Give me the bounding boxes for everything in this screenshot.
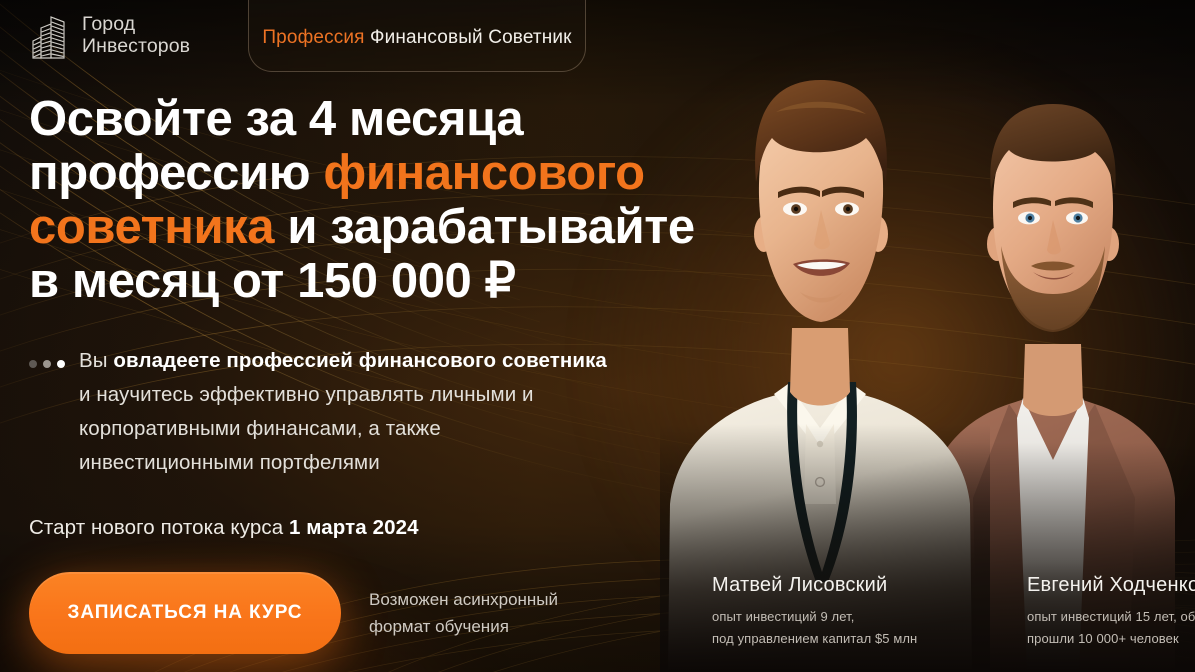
course-start-date: 1 марта 2024 bbox=[289, 516, 419, 539]
instructor-name: Матвей Лисовский bbox=[712, 574, 1012, 597]
page-title: Освойте за 4 месяца профессию финансовог… bbox=[29, 92, 719, 308]
dot-3-icon bbox=[57, 360, 65, 368]
profession-badge[interactable]: Профессия Финансовый Советник bbox=[248, 0, 586, 72]
logo-text: Город Инвесторов bbox=[82, 13, 190, 57]
instructor-detail-line-2: под управлением капитал $5 млн bbox=[712, 628, 1012, 650]
lead-prefix: Вы bbox=[79, 349, 113, 372]
lead-block: Вы овладеете профессией финансового сове… bbox=[29, 344, 719, 480]
badge-accent-word: Профессия bbox=[262, 27, 364, 48]
badge-rest: Финансовый Советник bbox=[365, 27, 572, 48]
lead-rest: и научитесь эффективно управлять личными… bbox=[79, 383, 534, 474]
buildings-logo-icon bbox=[29, 11, 71, 59]
headline-line-2-prefix: профессию bbox=[29, 146, 323, 200]
hero-banner: Город Инвесторов Профессия Финансовый Со… bbox=[0, 0, 1195, 672]
headline-accent-1: финансового bbox=[323, 146, 644, 200]
dot-1-icon bbox=[29, 360, 37, 368]
instructor-name: Евгений Ходченков bbox=[1027, 574, 1195, 597]
headline-line-1: Освойте за 4 месяца bbox=[29, 92, 523, 146]
headline-line-4: в месяц от 150 000 ₽ bbox=[29, 254, 515, 308]
three-dots-icon bbox=[29, 344, 65, 368]
instructor-caption-evgeniy: Евгений Ходченков опыт инвестиций 15 лет… bbox=[1027, 574, 1195, 650]
headline-line-3-rest: и зарабатывайте bbox=[274, 200, 695, 254]
lead-text: Вы овладеете профессией финансового сове… bbox=[79, 344, 619, 480]
headline-accent-2: советника bbox=[29, 200, 274, 254]
instructor-captions: Матвей Лисовский опыт инвестиций 9 лет, … bbox=[0, 552, 1195, 672]
profession-badge-label: Профессия Финансовый Советник bbox=[262, 27, 571, 49]
instructor-detail-line-1: опыт инвестиций 9 лет, bbox=[712, 606, 1012, 628]
dot-2-icon bbox=[43, 360, 51, 368]
site-header: Город Инвесторов Профессия Финансовый Со… bbox=[0, 0, 1195, 74]
course-start-prefix: Старт нового потока курса bbox=[29, 516, 289, 539]
instructor-detail-line-2: прошли 10 000+ человек bbox=[1027, 628, 1195, 650]
instructor-detail-line-1: опыт инвестиций 15 лет, обуч bbox=[1027, 606, 1195, 628]
course-start-line: Старт нового потока курса 1 марта 2024 bbox=[29, 516, 719, 540]
logo[interactable]: Город Инвесторов bbox=[29, 11, 190, 59]
instructor-caption-matvey: Матвей Лисовский опыт инвестиций 9 лет, … bbox=[712, 574, 1012, 650]
lead-bold: овладеете профессией финансового советни… bbox=[113, 349, 607, 372]
